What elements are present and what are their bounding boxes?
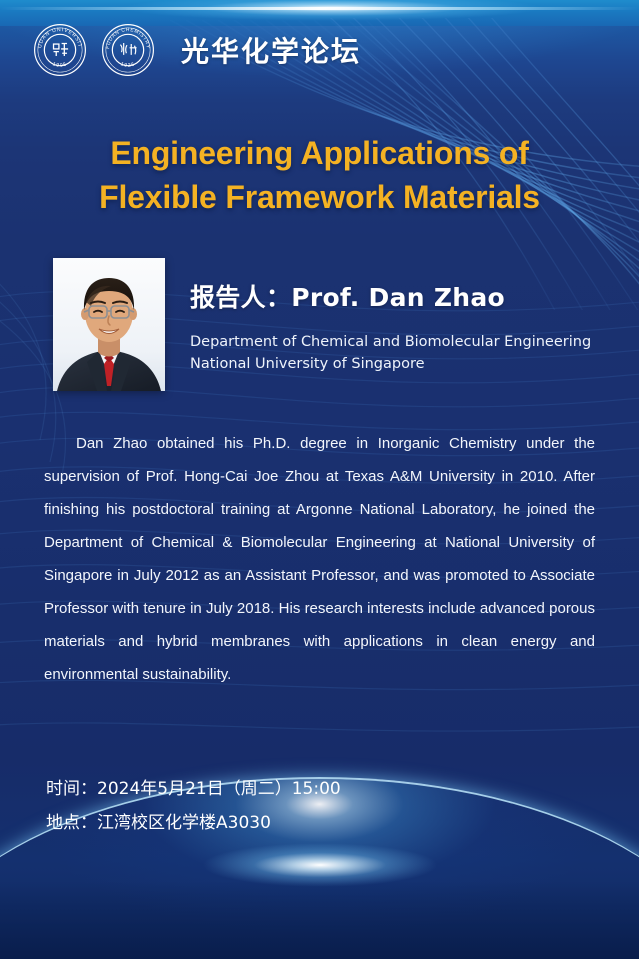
svg-text:1926: 1926 [120,61,137,69]
event-time: 时间：2024年5月21日（周二）15:00 [46,772,341,806]
fudan-chemistry-seal-icon: FUDAN CHEMISTRY 1926 [101,23,155,77]
speaker-portrait [53,258,165,391]
speaker-label: 报告人： [190,283,291,312]
affiliation-line-1: Department of Chemical and Biomolecular … [190,331,620,353]
speaker-biography: Dan Zhao obtained his Ph.D. degree in In… [44,427,595,691]
speaker-name: Prof. Dan Zhao [291,283,505,312]
speaker-affiliation: Department of Chemical and Biomolecular … [190,331,620,375]
title-line-1: Engineering Applications of [0,131,639,175]
speaker-section: 报告人：Prof. Dan Zhao Department of Chemica… [0,256,639,396]
biography-text: Dan Zhao obtained his Ph.D. degree in In… [44,427,595,691]
portrait-photo-image [53,258,165,391]
speaker-details: 报告人：Prof. Dan Zhao Department of Chemica… [190,278,620,375]
svg-text:1905: 1905 [52,61,69,69]
horizon-light-core [170,833,470,897]
poster-main-title: Engineering Applications of Flexible Fra… [0,131,639,219]
event-details: 时间：2024年5月21日（周二）15:00 地点：江湾校区化学楼A3030 [46,772,341,840]
poster-header: FUDAN UNIVERSITY 1905 FUDAN CHEMI [0,0,639,100]
fudan-university-seal-icon: FUDAN UNIVERSITY 1905 [33,23,87,77]
title-line-2: Flexible Framework Materials [0,175,639,219]
event-location: 地点：江湾校区化学楼A3030 [46,806,341,840]
speaker-name-line: 报告人：Prof. Dan Zhao [190,278,620,314]
affiliation-line-2: National University of Singapore [190,353,620,375]
bottom-vignette [0,881,639,959]
seminar-poster: FUDAN UNIVERSITY 1905 FUDAN CHEMI [0,0,639,959]
forum-title: 光华化学论坛 [181,30,361,70]
